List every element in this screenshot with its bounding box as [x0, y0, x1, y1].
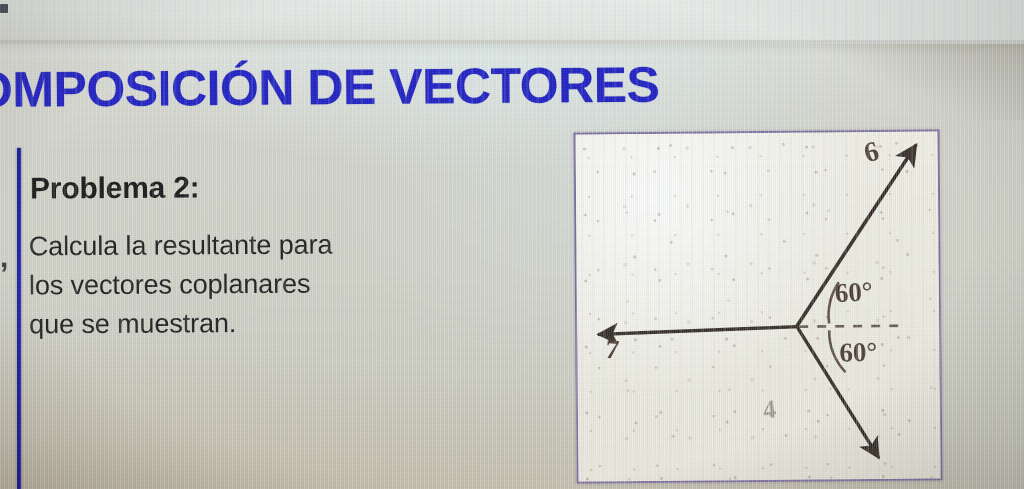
stray-punctuation-mark: , — [0, 243, 8, 273]
page-title: OMPOSICIÓN DE VECTORES — [0, 55, 734, 119]
vector-diagram-figure: 7 6 4 60° 60° — [573, 129, 942, 483]
problem-line-1: Calcula la resultante para — [29, 225, 479, 267]
vector-left-shaft — [599, 327, 797, 335]
problem-line-3: que se muestran. — [29, 303, 479, 345]
left-accent-bar — [17, 148, 21, 489]
problem-heading: Problema 2: — [30, 171, 200, 206]
reference-dashed-line — [799, 326, 907, 327]
corner-nick — [0, 4, 8, 13]
screenshot-root: OMPOSICIÓN DE VECTORES , Problema 2: Cal… — [0, 0, 1024, 489]
problem-line-2: los vectores coplanares — [29, 264, 479, 306]
angle-lower-label: 60° — [839, 337, 878, 369]
angle-upper-label: 60° — [834, 276, 874, 309]
problem-body: Calcula la resultante para los vectores … — [29, 225, 480, 345]
vector-diagram-svg — [575, 131, 940, 481]
